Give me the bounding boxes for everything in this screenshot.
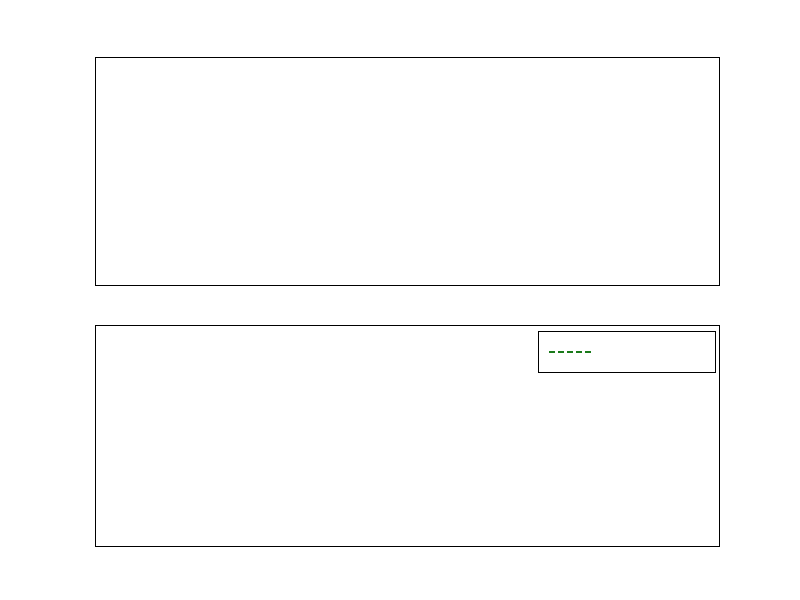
mag-limit-line-icon [549,351,591,353]
legend [538,331,716,373]
bottom-cumulative-plot [0,0,800,600]
figure [0,0,800,600]
